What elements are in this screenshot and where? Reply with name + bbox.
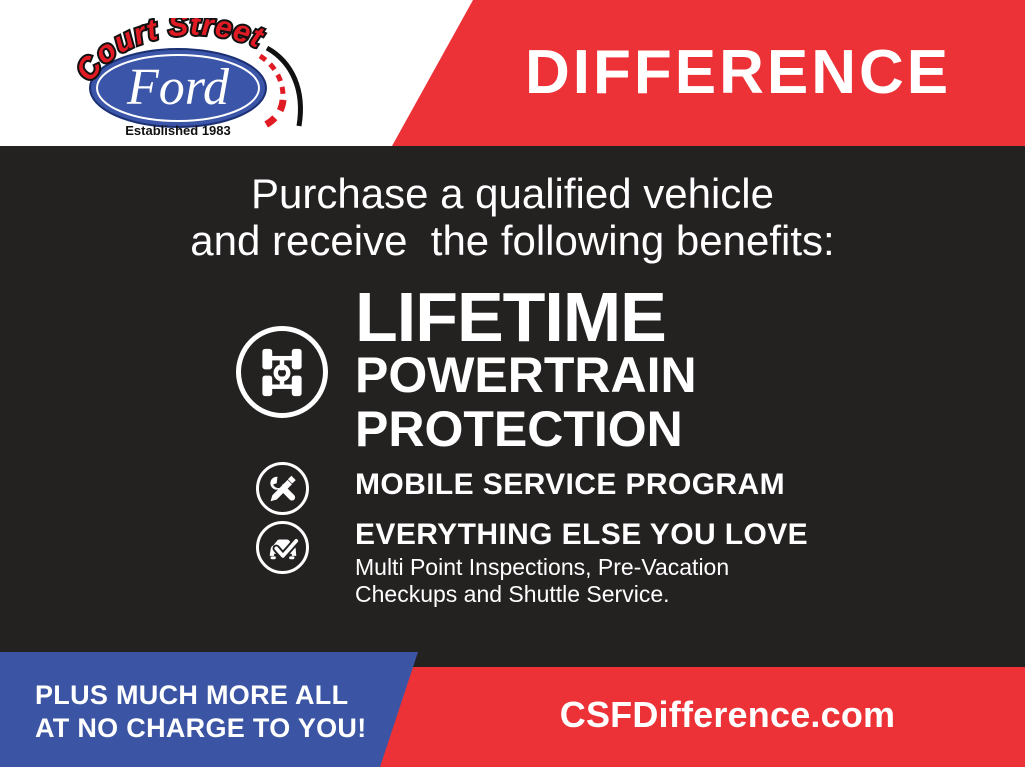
- benefit-1-line-2: POWERTRAIN: [355, 348, 697, 402]
- benefit-1-line-3: PROTECTION: [355, 402, 697, 456]
- benefit-3-sub-line-2: Checkups and Shuttle Service.: [355, 581, 815, 608]
- footer-blue-text: PLUS MUCH MORE ALL AT NO CHARGE TO YOU!: [35, 679, 367, 745]
- footer-website-url[interactable]: CSFDifference.com: [430, 694, 1025, 736]
- benefit-3-sub-line-1: Multi Point Inspections, Pre-Vacation: [355, 554, 815, 581]
- benefit-1-title: LIFETIME POWERTRAIN PROTECTION: [355, 286, 697, 456]
- footer-blue-line-1: PLUS MUCH MORE ALL: [35, 679, 367, 712]
- benefit-3-subtitle: Multi Point Inspections, Pre-Vacation Ch…: [355, 554, 815, 608]
- drivetrain-axle-icon: [236, 326, 328, 418]
- benefit-2-title: MOBILE SERVICE PROGRAM: [355, 468, 785, 502]
- ad-banner: Ford Court Street Established 1983 DIFFE…: [0, 0, 1025, 767]
- benefits-list: LIFETIME POWERTRAIN PROTECTION MOBILE SE…: [0, 0, 1025, 767]
- benefit-1-line-1: LIFETIME: [355, 286, 697, 348]
- benefit-3-title: EVERYTHING ELSE YOU LOVE: [355, 518, 808, 552]
- wrench-screwdriver-icon: [256, 462, 309, 515]
- car-checkmark-icon: [256, 521, 309, 574]
- footer-blue-line-2: AT NO CHARGE TO YOU!: [35, 712, 367, 745]
